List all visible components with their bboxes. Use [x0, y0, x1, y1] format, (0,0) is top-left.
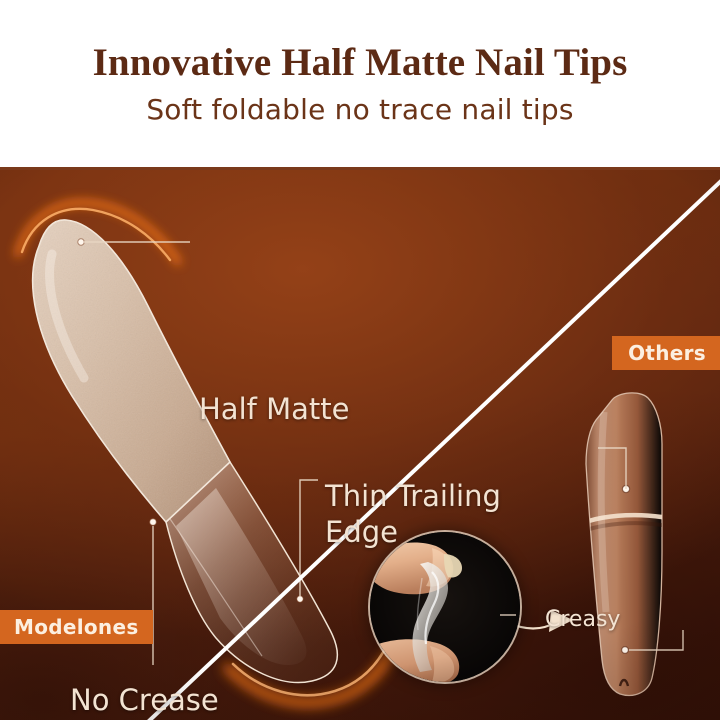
abs-marker-dot — [622, 647, 629, 654]
callout-half-matte: Half Matte — [199, 392, 349, 426]
callout-no-crease: No Crease — [70, 683, 219, 717]
header-banner: Innovative Half Matte Nail Tips Soft fol… — [0, 0, 720, 170]
callout-thin-trailing-edge: Thin Trailing Edge — [325, 478, 525, 550]
brand-badge-modelones: Modelones — [0, 610, 153, 644]
brand-badge-others-label: Others — [628, 341, 706, 365]
infographic-root: Innovative Half Matte Nail Tips Soft fol… — [0, 0, 720, 720]
page-subtitle: Soft foldable no trace nail tips — [0, 93, 720, 126]
callout-creasy: Creasy — [545, 607, 620, 632]
finger-bending-nail-tip-photo — [370, 532, 520, 682]
comparison-panel: Half Matte Thin Trailing Edge No Crease … — [0, 170, 720, 720]
page-title: Innovative Half Matte Nail Tips — [0, 40, 720, 85]
brand-badge-modelones-label: Modelones — [14, 615, 139, 639]
creasy-marker-dot — [622, 485, 629, 492]
brand-badge-others: Others — [612, 336, 720, 370]
